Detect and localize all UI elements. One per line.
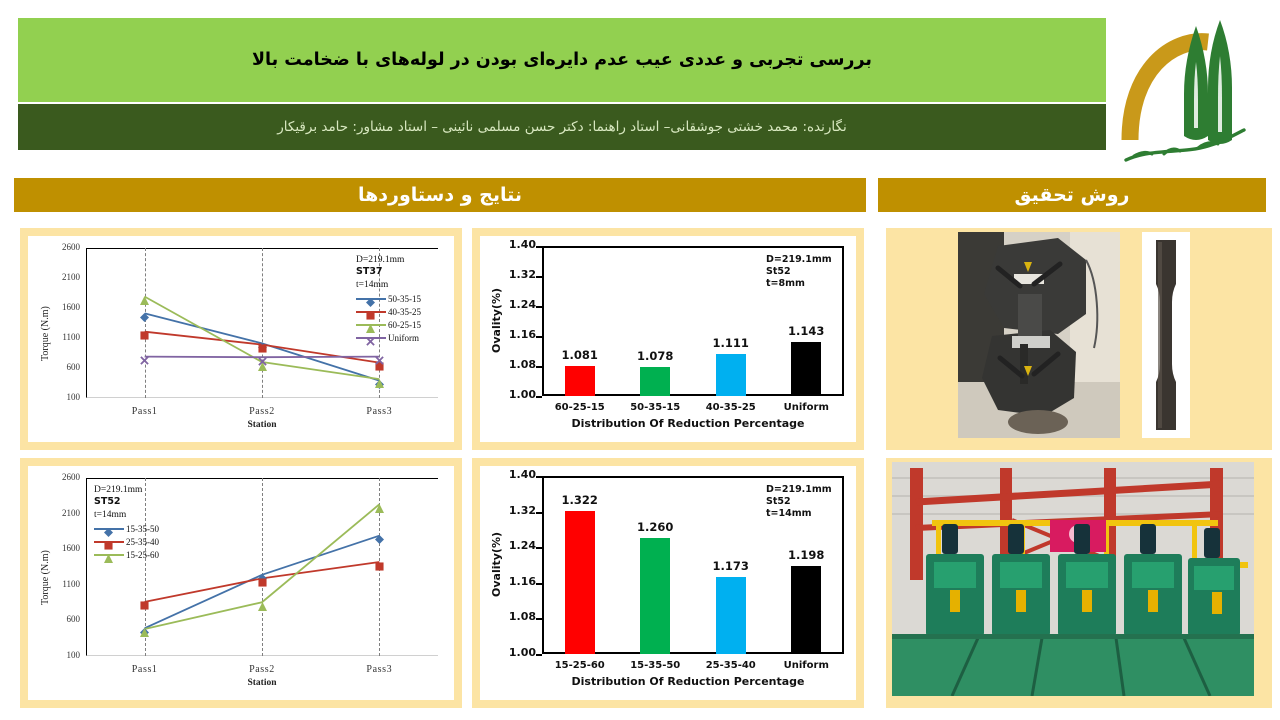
y-tick-mark [536, 306, 542, 308]
bar-value-label: 1.322 [546, 493, 614, 507]
legend-row: Uniform [356, 331, 421, 344]
y-tick-label: 100 [42, 650, 80, 660]
x-tick-label: Pass2 [222, 406, 302, 417]
data-point [140, 352, 149, 361]
bar-chart-ovality-t14: 1.001.081.161.241.321.40Ovality(%)1.3221… [480, 466, 856, 700]
chart-annotation: t=8mm [766, 278, 805, 291]
y-tick-mark [536, 654, 542, 656]
line-chart-torque-st37: 1006001100160021002600Torque (N.m)Pass1P… [28, 236, 454, 442]
bar-15-35-50 [640, 538, 670, 654]
data-point [258, 340, 267, 349]
legend-label: 50-35-15 [388, 294, 421, 304]
y-tick-label: 1.40 [490, 468, 536, 481]
legend-label: 15-35-50 [126, 524, 159, 534]
legend-row: 60-25-15 [356, 318, 421, 331]
data-point [140, 327, 149, 336]
legend-marker [94, 522, 124, 535]
bar-Uniform [791, 566, 821, 654]
legend-label: 15-25-60 [126, 550, 159, 560]
y-tick-mark [536, 246, 542, 248]
chart-annotation: D=219.1mm [94, 484, 142, 497]
legend-label: Uniform [388, 333, 419, 343]
y-tick-label: 2100 [42, 272, 80, 282]
bar-40-35-25 [716, 354, 746, 396]
y-tick-label: 2600 [42, 242, 80, 252]
y-axis-title: Torque (N.m) [40, 306, 51, 361]
section-band-method-label: روش تحقیق [1015, 184, 1130, 206]
bar-50-35-15 [640, 367, 670, 396]
chart-panel-torque-st52: 1006001100160021002600Torque (N.m)Pass1P… [20, 458, 462, 708]
x-axis-title: Station [86, 678, 438, 688]
data-point [258, 574, 267, 583]
method-photo-panel-bottom [886, 458, 1272, 708]
bar-value-label: 1.081 [546, 348, 614, 362]
data-point [375, 500, 384, 509]
x-tick-label: Uniform [760, 660, 852, 671]
y-tick-mark [536, 366, 542, 368]
legend-row: 40-35-25 [356, 305, 421, 318]
y-tick-label: 2100 [42, 508, 80, 518]
poster-title-banner: بررسی تجربی و عددی عیب عدم دایره‌ای بودن… [18, 18, 1106, 102]
x-gridline [145, 248, 146, 398]
y-axis-title: Ovality(%) [490, 288, 503, 353]
bar-value-label: 1.143 [772, 324, 840, 338]
x-tick-label: Uniform [760, 402, 852, 413]
legend-marker [356, 331, 386, 344]
legend-marker [356, 318, 386, 331]
y-tick-label: 1.08 [490, 358, 536, 371]
chart-annotation: ST37 [356, 266, 383, 279]
section-band-method: روش تحقیق [878, 178, 1266, 212]
chart-panel-ovality-t8: 1.001.081.161.241.321.40Ovality(%)1.0816… [472, 228, 864, 450]
method-photo-panel-top [886, 228, 1272, 450]
y-tick-mark [536, 476, 542, 478]
data-point [375, 531, 384, 540]
legend-marker [94, 548, 124, 561]
tensile-specimen-photo [1142, 232, 1190, 438]
line-chart-torque-st52: 1006001100160021002600Torque (N.m)Pass1P… [28, 466, 454, 700]
legend-label: 60-25-15 [388, 320, 421, 330]
y-tick-label: 600 [42, 614, 80, 624]
data-point [375, 375, 384, 384]
x-tick-label: Pass1 [105, 406, 185, 417]
chart-annotation: St52 [766, 266, 791, 279]
bar-Uniform [791, 342, 821, 396]
bar-chart-ovality-t8: 1.001.081.161.241.321.40Ovality(%)1.0816… [480, 236, 856, 442]
data-point [375, 352, 384, 361]
chart-annotation: ST52 [94, 496, 121, 509]
y-tick-label: 2600 [42, 472, 80, 482]
legend-row: 15-25-60 [94, 548, 159, 561]
y-tick-label: 1.00 [490, 388, 536, 401]
legend-label: 25-35-40 [126, 537, 159, 547]
y-tick-label: 600 [42, 362, 80, 372]
chart-annotation: t=14mm [766, 508, 812, 521]
data-point [140, 309, 149, 318]
legend-row: 15-35-50 [94, 522, 159, 535]
y-tick-label: 100 [42, 392, 80, 402]
data-point [258, 353, 267, 362]
y-tick-mark [536, 276, 542, 278]
x-axis-title: Station [86, 420, 438, 430]
chart-annotation: t=14mm [94, 509, 126, 522]
y-tick-label: 1.32 [490, 504, 536, 517]
chart-annotation: St52 [766, 496, 791, 509]
legend-marker [356, 305, 386, 318]
y-tick-mark [536, 512, 542, 514]
chart-annotation: D=219.1mm [766, 484, 832, 497]
y-tick-label: 1.32 [490, 268, 536, 281]
x-gridline [262, 248, 263, 398]
y-tick-label: 1.00 [490, 646, 536, 659]
y-tick-mark [536, 618, 542, 620]
x-axis-title: Distribution Of Reduction Percentage [532, 675, 844, 688]
legend-row: 25-35-40 [94, 535, 159, 548]
x-tick-label: Pass1 [105, 664, 185, 675]
legend-marker [94, 535, 124, 548]
y-tick-label: 1.08 [490, 610, 536, 623]
bar-value-label: 1.078 [621, 349, 689, 363]
legend-row: 50-35-15 [356, 292, 421, 305]
bar-15-25-60 [565, 511, 595, 654]
x-tick-label: Pass3 [339, 406, 419, 417]
data-point [140, 624, 149, 633]
chart-annotation: t=14mm [356, 279, 388, 292]
data-point [258, 598, 267, 607]
chart-panel-torque-st37: 1006001100160021002600Torque (N.m)Pass1P… [20, 228, 462, 450]
data-point [140, 597, 149, 606]
y-axis-title: Ovality(%) [490, 532, 503, 597]
x-tick-label: Pass3 [339, 664, 419, 675]
university-logo [1112, 8, 1272, 168]
bar-60-25-15 [565, 366, 595, 396]
x-gridline [262, 478, 263, 656]
data-point [375, 558, 384, 567]
data-point [140, 292, 149, 301]
bar-value-label: 1.173 [697, 559, 765, 573]
x-tick-label: Pass2 [222, 664, 302, 675]
y-axis-title: Torque (N.m) [40, 550, 51, 605]
bar-value-label: 1.260 [621, 520, 689, 534]
chart-annotation: D=219.1mm [356, 254, 404, 267]
bar-value-label: 1.198 [772, 548, 840, 562]
tensile-test-machine-photo [958, 232, 1120, 438]
bar-25-35-40 [716, 577, 746, 654]
poster-title: بررسی تجربی و عددی عیب عدم دایره‌ای بودن… [228, 46, 896, 74]
chart-annotation: D=219.1mm [766, 254, 832, 267]
chart-legend: 15-35-5025-35-4015-25-60 [94, 522, 159, 561]
y-tick-mark [536, 547, 542, 549]
legend-marker [356, 292, 386, 305]
roll-forming-mill-photo [892, 462, 1254, 696]
poster-authors-banner: نگارنده: محمد خشتی جوشقانی– استاد راهنما… [18, 104, 1106, 150]
y-tick-mark [536, 336, 542, 338]
legend-label: 40-35-25 [388, 307, 421, 317]
poster-authors: نگارنده: محمد خشتی جوشقانی– استاد راهنما… [277, 119, 847, 135]
poster-root: بررسی تجربی و عددی عیب عدم دایره‌ای بودن… [0, 0, 1280, 720]
chart-panel-ovality-t14: 1.001.081.161.241.321.40Ovality(%)1.3221… [472, 458, 864, 708]
section-band-results-label: نتایج و دستاوردها [358, 184, 522, 206]
chart-legend: 50-35-1540-35-2560-25-15Uniform [356, 292, 421, 344]
y-tick-mark [536, 583, 542, 585]
y-tick-label: 1.40 [490, 238, 536, 251]
section-band-results: نتایج و دستاوردها [14, 178, 866, 212]
y-tick-mark [536, 396, 542, 398]
bar-value-label: 1.111 [697, 336, 765, 350]
x-axis-title: Distribution Of Reduction Percentage [532, 417, 844, 430]
